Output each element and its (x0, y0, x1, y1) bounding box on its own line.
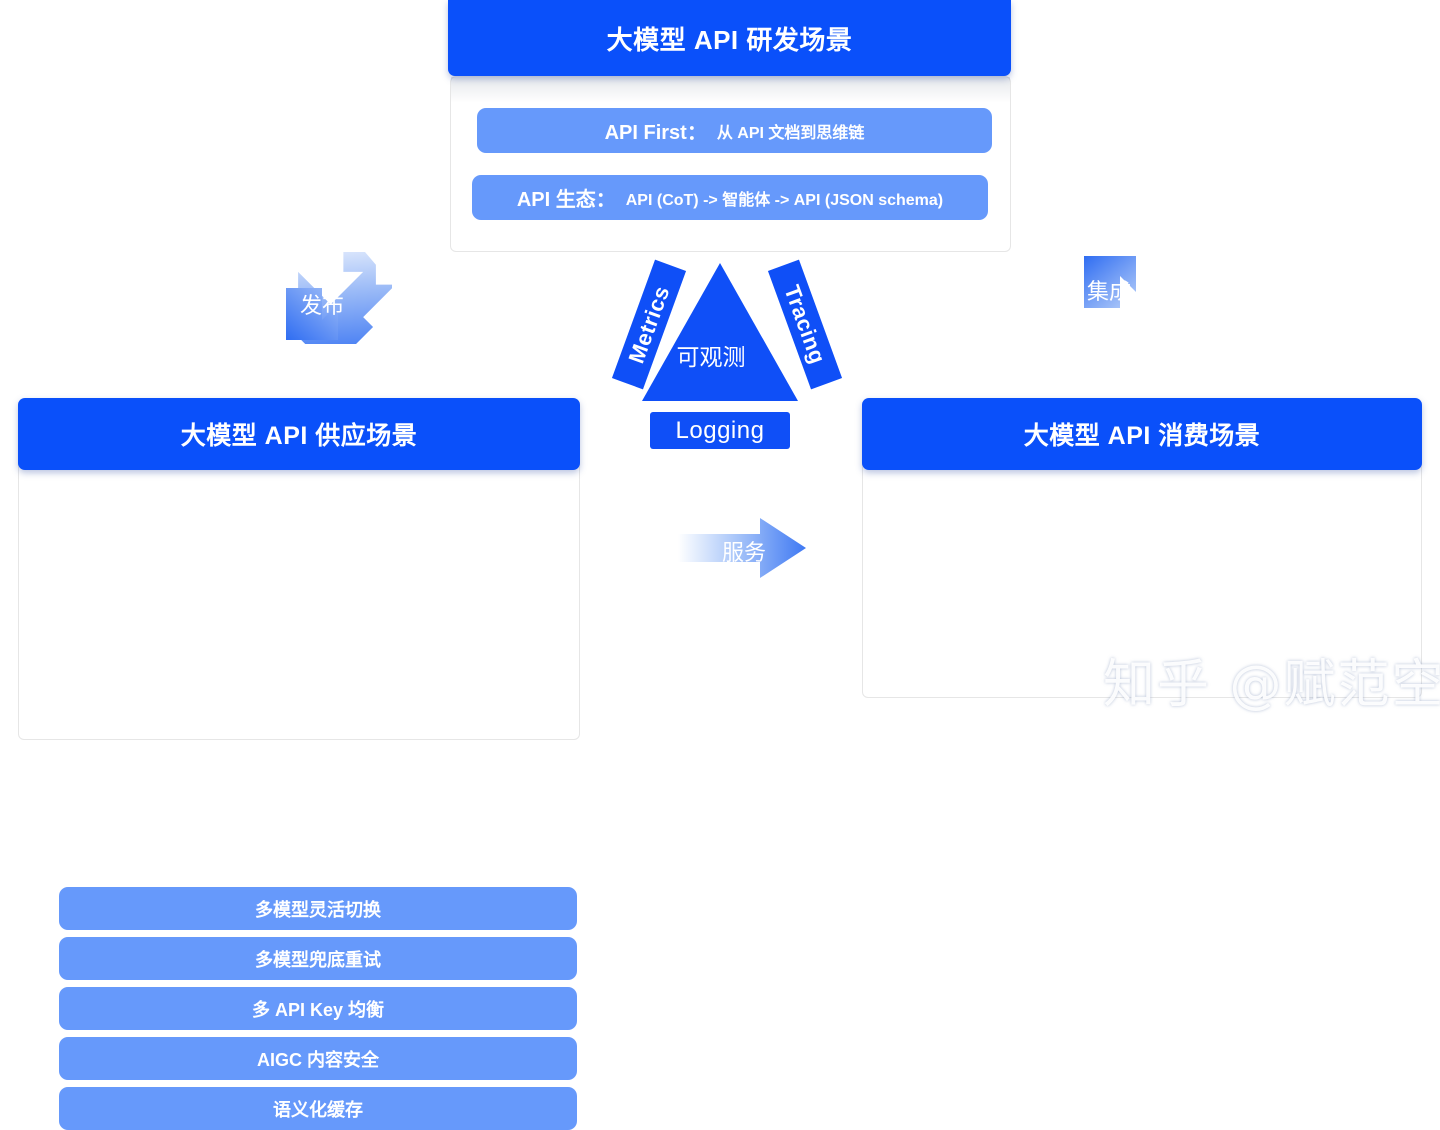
watermark: 知乎 @赋范空间 (1103, 642, 1440, 717)
item-tail-label: API (CoT) -> 智能体 -> API (JSON schema) (626, 186, 943, 210)
supply-scenario-title: 大模型 API 供应场景 (18, 398, 580, 470)
card-top-shade (451, 77, 1010, 103)
development-scenario-title: 大模型 API 研发场景 (448, 0, 1011, 76)
supply-item-3[interactable]: AIGC 内容安全 (59, 1037, 577, 1080)
service-arrow-label: 服务 (722, 535, 766, 567)
development-item-api-first[interactable]: API First： 从 API 文档到思维链 (477, 108, 992, 153)
supply-item-4[interactable]: 语义化缓存 (59, 1087, 577, 1130)
development-scenario-card (450, 76, 1011, 252)
consumption-scenario-title: 大模型 API 消费场景 (862, 398, 1422, 470)
integrate-arrow-label: 集成 (1087, 274, 1131, 306)
supply-item-1[interactable]: 多模型兜底重试 (59, 937, 577, 980)
diagram-canvas: 大模型 API 研发场景 API First： 从 API 文档到思维链 API… (0, 0, 1440, 734)
development-item-api-ecosystem[interactable]: API 生态： API (CoT) -> 智能体 -> API (JSON sc… (472, 175, 988, 220)
observability-center-label: 可观测 (656, 338, 766, 372)
item-tail-label: 从 API 文档到思维链 (717, 119, 865, 143)
item-lead-label: API First： (605, 116, 707, 145)
supply-item-2[interactable]: 多 API Key 均衡 (59, 987, 577, 1030)
publish-arrow-label: 发布 (300, 288, 344, 320)
supply-item-0[interactable]: 多模型灵活切换 (59, 887, 577, 930)
observability-cluster: 可观测 Metrics Tracing Logging (580, 250, 880, 460)
item-lead-label: API 生态： (517, 183, 616, 212)
logging-bar[interactable]: Logging (650, 412, 790, 449)
